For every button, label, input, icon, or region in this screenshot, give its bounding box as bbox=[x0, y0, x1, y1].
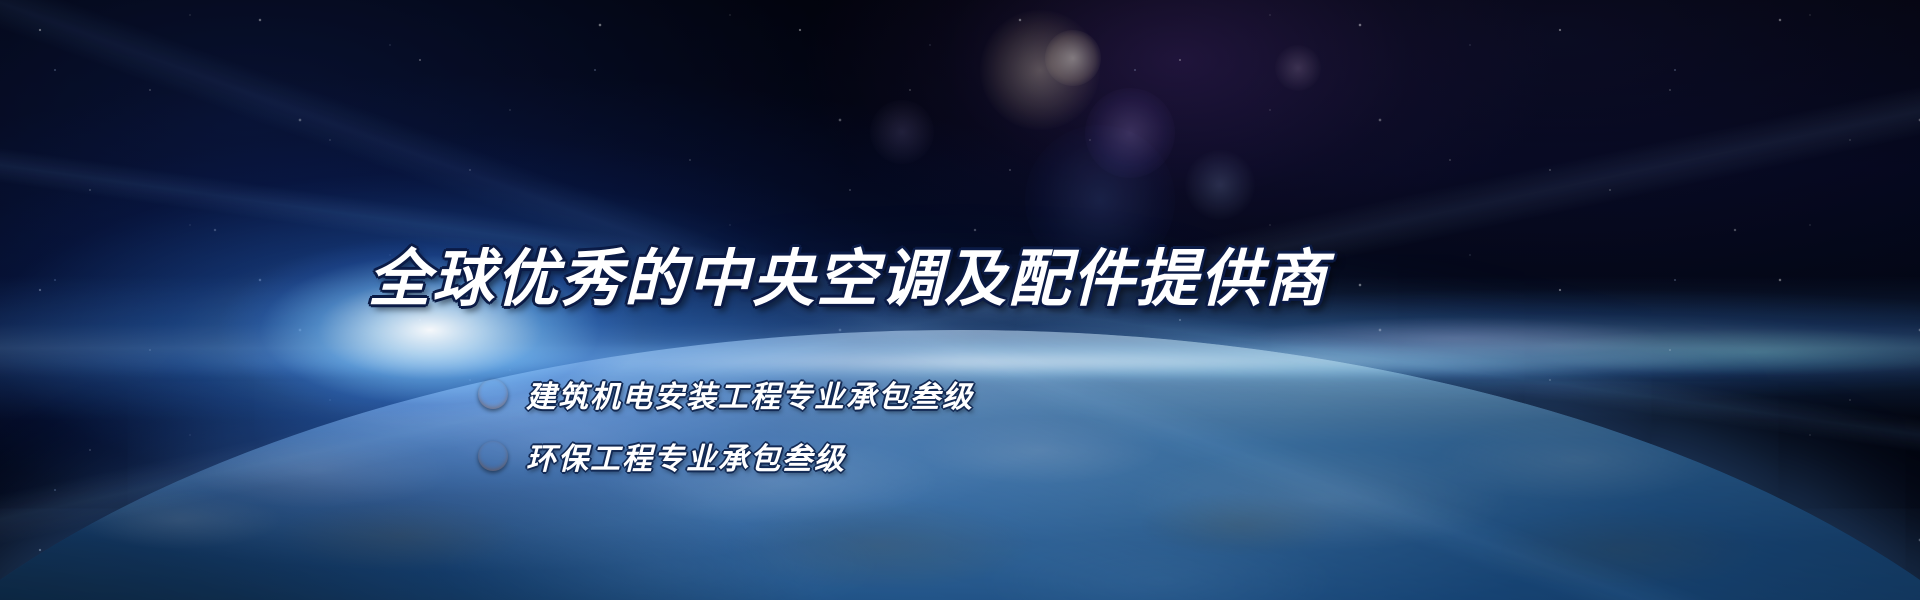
qualification-list: 建筑机电安装工程专业承包叁级 环保工程专业承包叁级 bbox=[478, 372, 974, 478]
qualification-label: 环保工程专业承包叁级 bbox=[526, 434, 846, 478]
banner-content: 全球优秀的中央空调及配件提供商 建筑机电安装工程专业承包叁级 环保工程专业承包叁… bbox=[0, 0, 1920, 600]
banner-headline: 全球优秀的中央空调及配件提供商 bbox=[368, 248, 1328, 310]
list-item: 环保工程专业承包叁级 bbox=[478, 434, 974, 478]
hero-banner: 全球优秀的中央空调及配件提供商 建筑机电安装工程专业承包叁级 环保工程专业承包叁… bbox=[0, 0, 1920, 600]
list-item: 建筑机电安装工程专业承包叁级 bbox=[478, 372, 974, 416]
bullet-dot-icon bbox=[478, 441, 508, 471]
qualification-label: 建筑机电安装工程专业承包叁级 bbox=[526, 372, 974, 416]
bullet-dot-icon bbox=[478, 379, 508, 409]
